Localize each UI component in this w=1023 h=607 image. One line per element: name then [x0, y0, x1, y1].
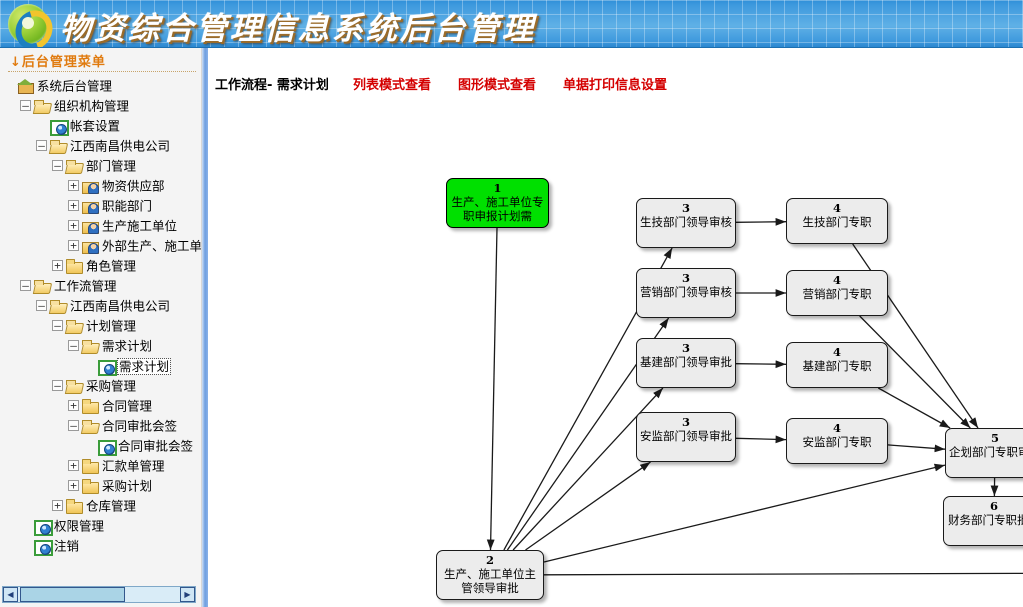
page-globe-icon — [50, 119, 67, 133]
tree-item[interactable]: –合同审批会签 — [0, 416, 202, 436]
workflow-node-number: 6 — [944, 499, 1023, 513]
page-globe-icon — [34, 539, 51, 553]
tree-item-label: 采购计划 — [102, 479, 152, 494]
tree-item[interactable]: 权限管理 — [0, 516, 202, 536]
link-graphic-mode-view[interactable]: 图形模式查看 — [458, 74, 536, 93]
workflow-node-title: 基建部门专职 — [787, 359, 887, 373]
tree-expand-icon[interactable]: + — [68, 200, 79, 211]
page-globe-icon — [98, 439, 115, 453]
link-list-mode-view[interactable]: 列表模式查看 — [353, 74, 431, 93]
workflow-node-title: 营销部门领导审核 — [637, 285, 735, 299]
tree-item[interactable]: +采购计划 — [0, 476, 202, 496]
tree-item-label: 汇款单管理 — [102, 459, 165, 474]
workflow-node[interactable]: 5企划部门专职审批 — [945, 428, 1023, 478]
page-globe-icon — [34, 519, 51, 533]
folder-user-icon — [82, 179, 99, 193]
tree-collapse-icon[interactable]: – — [20, 100, 31, 111]
workflow-node-number: 4 — [787, 273, 887, 287]
folder-open-icon — [34, 279, 51, 293]
tree-item-label: 帐套设置 — [70, 119, 120, 134]
tree-item-label: 部门管理 — [86, 159, 136, 174]
tree-item[interactable]: 系统后台管理 — [0, 76, 202, 96]
workflow-edge — [544, 573, 1023, 575]
tree-item[interactable]: –需求计划 — [0, 336, 202, 356]
workflow-node[interactable]: 1生产、施工单位专职申报计划需 — [446, 178, 549, 228]
workflow-node[interactable]: 4基建部门专职 — [786, 342, 888, 388]
tree-item-label: 江西南昌供电公司 — [70, 299, 170, 314]
workflow-node[interactable]: 4营销部门专职 — [786, 270, 888, 316]
folder-user-icon — [82, 199, 99, 213]
folder-user-icon — [82, 219, 99, 233]
scroll-left-arrow-icon[interactable]: ◀ — [3, 587, 18, 602]
tree-item[interactable]: –组织机构管理 — [0, 96, 202, 116]
tree-item-label: 注销 — [54, 539, 79, 554]
workflow-node-title: 生产、施工单位主管领导审批 — [437, 567, 543, 595]
tree-item[interactable]: +合同管理 — [0, 396, 202, 416]
tree-item-label: 江西南昌供电公司 — [70, 139, 170, 154]
tree-toggle-spacer — [4, 79, 15, 90]
sidebar-header: ↓后台管理菜单 — [0, 48, 202, 70]
workflow-edge — [544, 465, 945, 562]
folder-open-icon — [50, 299, 67, 313]
tree-item-label: 合同审批会签 — [102, 419, 177, 434]
workflow-node-title: 生产、施工单位专职申报计划需 — [447, 195, 548, 223]
tree-expand-icon[interactable]: + — [52, 500, 63, 511]
tree-item-label: 工作流管理 — [54, 279, 117, 294]
tree-toggle-spacer — [84, 359, 95, 370]
company-logo-icon — [8, 4, 48, 44]
folder-icon — [82, 479, 99, 493]
tree-item-label: 采购管理 — [86, 379, 136, 394]
folder-open-icon — [66, 159, 83, 173]
tree-expand-icon[interactable]: + — [68, 400, 79, 411]
workflow-edge — [878, 388, 950, 428]
workflow-edge — [888, 445, 945, 449]
workflow-node-title: 营销部门专职 — [787, 287, 887, 301]
workflow-node-number: 4 — [787, 421, 887, 435]
tree-collapse-icon[interactable]: – — [36, 140, 47, 151]
tree-expand-icon[interactable]: + — [68, 220, 79, 231]
tree-expand-icon[interactable]: + — [68, 480, 79, 491]
folder-icon — [66, 499, 83, 513]
sidebar-horizontal-scrollbar[interactable]: ◀ ▶ — [2, 586, 196, 603]
tree-item-label: 权限管理 — [54, 519, 104, 534]
tree-item[interactable]: +汇款单管理 — [0, 456, 202, 476]
tree-collapse-icon[interactable]: – — [52, 160, 63, 171]
tree-toggle-spacer — [20, 539, 31, 550]
workflow-node[interactable]: 3安监部门领导审批 — [636, 412, 736, 462]
tree-expand-icon[interactable]: + — [68, 240, 79, 251]
folder-open-icon — [50, 139, 67, 153]
tree-item[interactable]: –采购管理 — [0, 376, 202, 396]
workflow-node-number: 3 — [637, 271, 735, 285]
workflow-node[interactable]: 3基建部门领导审批 — [636, 338, 736, 388]
tree-item[interactable]: +仓库管理 — [0, 496, 202, 516]
workflow-node-title: 企划部门专职审批 — [946, 445, 1023, 459]
tree-item[interactable]: 需求计划 — [0, 356, 202, 376]
application-window: 物资综合管理信息系统后台管理 ↓后台管理菜单 系统后台管理–组织机构管理帐套设置… — [0, 0, 1023, 607]
folder-icon — [82, 459, 99, 473]
app-header-banner: 物资综合管理信息系统后台管理 — [0, 0, 1023, 48]
workflow-node[interactable]: 3营销部门领导审核 — [636, 268, 736, 318]
tree-item[interactable]: 帐套设置 — [0, 116, 202, 136]
home-icon — [18, 79, 34, 93]
workflow-node-number: 2 — [437, 553, 543, 567]
scrollbar-thumb[interactable] — [20, 587, 125, 602]
tree-collapse-icon[interactable]: – — [20, 280, 31, 291]
app-title: 物资综合管理信息系统后台管理 — [60, 3, 536, 48]
workflow-node-number: 4 — [787, 345, 887, 359]
tree-item[interactable]: –江西南昌供电公司 — [0, 136, 202, 156]
sidebar-panel: ↓后台管理菜单 系统后台管理–组织机构管理帐套设置–江西南昌供电公司–部门管理+… — [0, 48, 202, 607]
workflow-edge — [736, 222, 786, 223]
workflow-node[interactable]: 4安监部门专职 — [786, 418, 888, 464]
tree-collapse-icon[interactable]: – — [52, 380, 63, 391]
tree-item-label: 需求计划 — [102, 339, 152, 354]
workflow-node-number: 1 — [447, 181, 548, 195]
workflow-edge — [736, 364, 786, 365]
tree-item-label: 角色管理 — [86, 259, 136, 274]
folder-open-icon — [82, 339, 99, 353]
tree-item-label: 物资供应部 — [102, 179, 165, 194]
tree-collapse-icon[interactable]: – — [52, 320, 63, 331]
tree-item-label: 组织机构管理 — [54, 99, 129, 114]
folder-open-icon — [66, 379, 83, 393]
workflow-edge — [526, 462, 651, 550]
tree-collapse-icon[interactable]: – — [68, 420, 79, 431]
workflow-node-title: 生技部门专职 — [787, 215, 887, 229]
folder-open-icon — [82, 419, 99, 433]
tree-expand-icon[interactable]: + — [68, 180, 79, 191]
tree-item[interactable]: 合同审批会签 — [0, 436, 202, 456]
tree-expand-icon[interactable]: + — [52, 260, 63, 271]
workflow-node-title: 基建部门领导审批 — [637, 355, 735, 369]
tree-item[interactable]: 注销 — [0, 536, 202, 556]
workflow-diagram-canvas: 1生产、施工单位专职申报计划需2生产、施工单位主管领导审批3生技部门领导审核3营… — [208, 100, 1023, 607]
page-title: 工作流程- 需求计划 — [215, 74, 329, 93]
workflow-edge — [736, 438, 786, 439]
tree-item[interactable]: –部门管理 — [0, 156, 202, 176]
tree-toggle-spacer — [36, 119, 47, 130]
workflow-node[interactable]: 4生技部门专职 — [786, 198, 888, 244]
tree-item-label: 合同管理 — [102, 399, 152, 414]
tree-item-label: 职能部门 — [102, 199, 152, 214]
page-globe-icon — [98, 359, 115, 373]
workflow-edge — [491, 228, 498, 550]
link-print-settings[interactable]: 单据打印信息设置 — [563, 74, 667, 93]
workflow-node-number: 4 — [787, 201, 887, 215]
folder-open-icon — [66, 319, 83, 333]
tree-item[interactable]: –计划管理 — [0, 316, 202, 336]
tree-item-label: 外部生产、施工单 — [102, 239, 202, 254]
folder-icon — [66, 259, 83, 273]
navigation-tree: 系统后台管理–组织机构管理帐套设置–江西南昌供电公司–部门管理+物资供应部+职能… — [0, 76, 202, 576]
tree-item[interactable]: +角色管理 — [0, 256, 202, 276]
workflow-toolbar: 工作流程- 需求计划 列表模式查看 图形模式查看 单据打印信息设置 — [208, 74, 1023, 100]
workflow-node-number: 3 — [637, 201, 735, 215]
workflow-edges — [208, 100, 1023, 607]
tree-collapse-icon[interactable]: – — [36, 300, 47, 311]
tree-item[interactable]: +外部生产、施工单 — [0, 236, 202, 256]
workflow-node-title: 生技部门领导审核 — [637, 215, 735, 229]
tree-item-label: 生产施工单位 — [102, 219, 177, 234]
folder-open-icon — [34, 99, 51, 113]
tree-item[interactable]: +生产施工单位 — [0, 216, 202, 236]
tree-item-label: 需求计划 — [118, 359, 170, 374]
folder-icon — [82, 399, 99, 413]
workflow-node[interactable]: 3生技部门领导审核 — [636, 198, 736, 248]
workflow-node-title: 财务部门专职批准 — [944, 513, 1023, 527]
tree-item[interactable]: –工作流管理 — [0, 276, 202, 296]
folder-user-icon — [82, 239, 99, 253]
workflow-node[interactable]: 6财务部门专职批准 — [943, 496, 1023, 546]
tree-item-label: 计划管理 — [86, 319, 136, 334]
tree-item-label: 系统后台管理 — [37, 79, 112, 94]
tree-expand-icon[interactable]: + — [68, 460, 79, 471]
workflow-node[interactable]: 2生产、施工单位主管领导审批 — [436, 550, 544, 600]
tree-item[interactable]: +职能部门 — [0, 196, 202, 216]
workflow-node-number: 5 — [946, 431, 1023, 445]
workflow-node-title: 安监部门领导审批 — [637, 429, 735, 443]
tree-toggle-spacer — [20, 519, 31, 530]
tree-item-label: 仓库管理 — [86, 499, 136, 514]
sidebar-divider — [8, 71, 196, 72]
sidebar-header-label: ↓后台管理菜单 — [10, 55, 106, 70]
tree-toggle-spacer — [84, 439, 95, 450]
main-content-panel: 工作流程- 需求计划 列表模式查看 图形模式查看 单据打印信息设置 1生产、施工… — [208, 48, 1023, 607]
scroll-right-arrow-icon[interactable]: ▶ — [180, 587, 195, 602]
tree-item-label: 合同审批会签 — [118, 439, 193, 454]
workflow-node-number: 3 — [637, 415, 735, 429]
workflow-node-number: 3 — [637, 341, 735, 355]
tree-item[interactable]: +物资供应部 — [0, 176, 202, 196]
tree-collapse-icon[interactable]: – — [68, 340, 79, 351]
workflow-node-title: 安监部门专职 — [787, 435, 887, 449]
tree-item[interactable]: –江西南昌供电公司 — [0, 296, 202, 316]
